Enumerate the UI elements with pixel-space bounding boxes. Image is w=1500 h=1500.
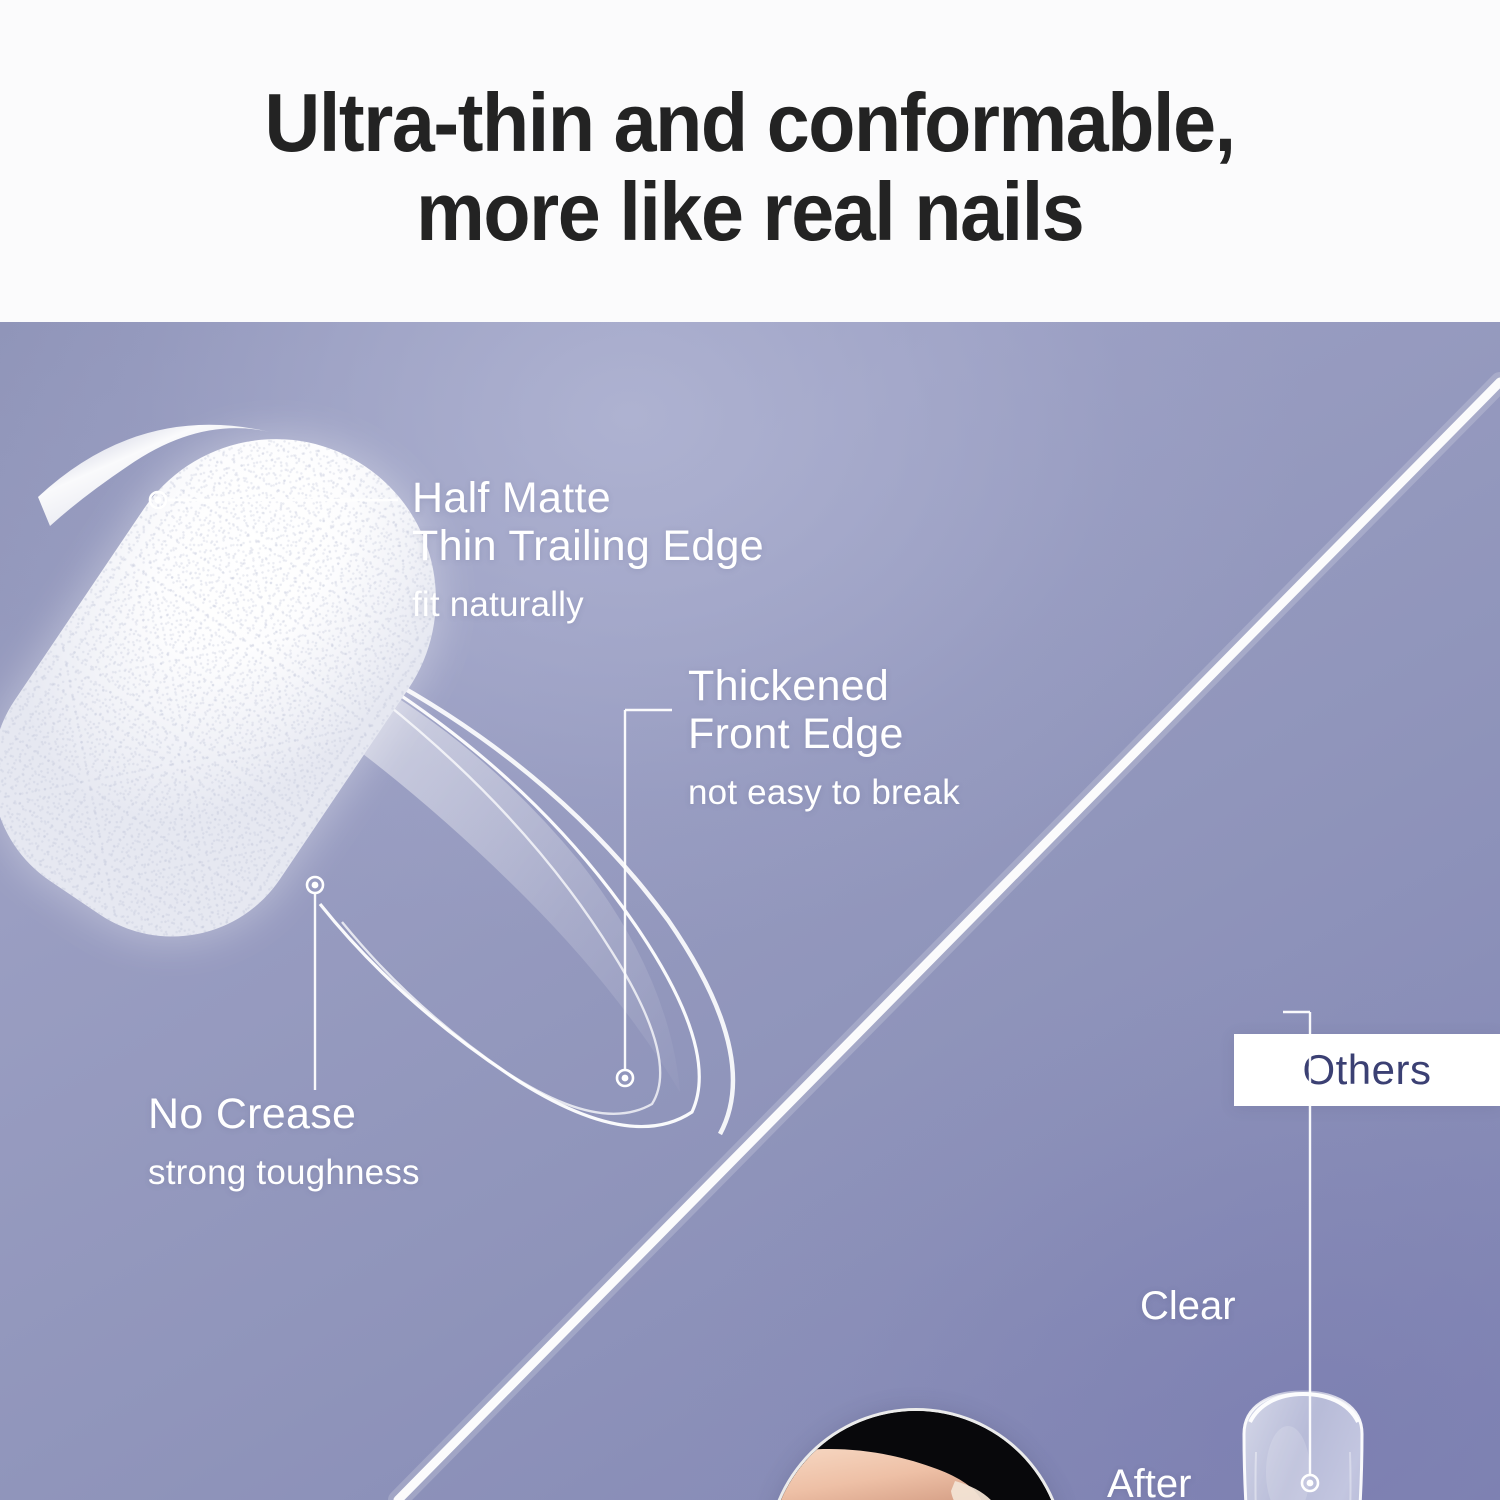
photo-inset-bend-demo <box>766 1408 1066 1500</box>
callout-thickened-title-1: Thickened <box>688 662 960 710</box>
callout-half-matte-subtitle: fit naturally <box>412 584 764 626</box>
callout-thickened-front-edge: Thickened Front Edge not easy to break <box>688 662 960 814</box>
callout-half-matte-title-2: Thin Trailing Edge <box>412 522 764 570</box>
callout-no-crease-title-1: No Crease <box>148 1090 420 1138</box>
fingers-pinching-nail-illustration <box>769 1411 1063 1500</box>
callout-no-crease: No Crease strong toughness <box>148 1090 420 1194</box>
clear-abs-nail-illustration <box>1208 1382 1398 1500</box>
clear-nail-body <box>1208 1382 1398 1500</box>
header-banner: Ultra-thin and conformable, more like re… <box>0 0 1500 322</box>
label-clear: Clear <box>1140 1284 1236 1329</box>
callout-thickened-title-2: Front Edge <box>688 710 960 758</box>
comparison-panel: Half Matte Thin Trailing Edge fit natura… <box>0 322 1500 1500</box>
brand-badge-others-label: Others <box>1302 1046 1431 1094</box>
callout-half-matte-title-1: Half Matte <box>412 474 764 522</box>
photo-inset-image <box>769 1411 1063 1500</box>
page-title-line-1: Ultra-thin and conformable, <box>265 79 1235 168</box>
page-title-line-2: more like real nails <box>416 168 1083 257</box>
callout-half-matte: Half Matte Thin Trailing Edge fit natura… <box>412 474 764 626</box>
callout-no-crease-subtitle: strong toughness <box>148 1152 420 1194</box>
brand-badge-others: Others <box>1234 1034 1500 1106</box>
infographic-page: Ultra-thin and conformable, more like re… <box>0 0 1500 1500</box>
label-after-bend-line-1: After <box>1098 1462 1191 1500</box>
callout-thickened-subtitle: not easy to break <box>688 772 960 814</box>
label-after-bend: After Bend <box>1098 1462 1191 1500</box>
